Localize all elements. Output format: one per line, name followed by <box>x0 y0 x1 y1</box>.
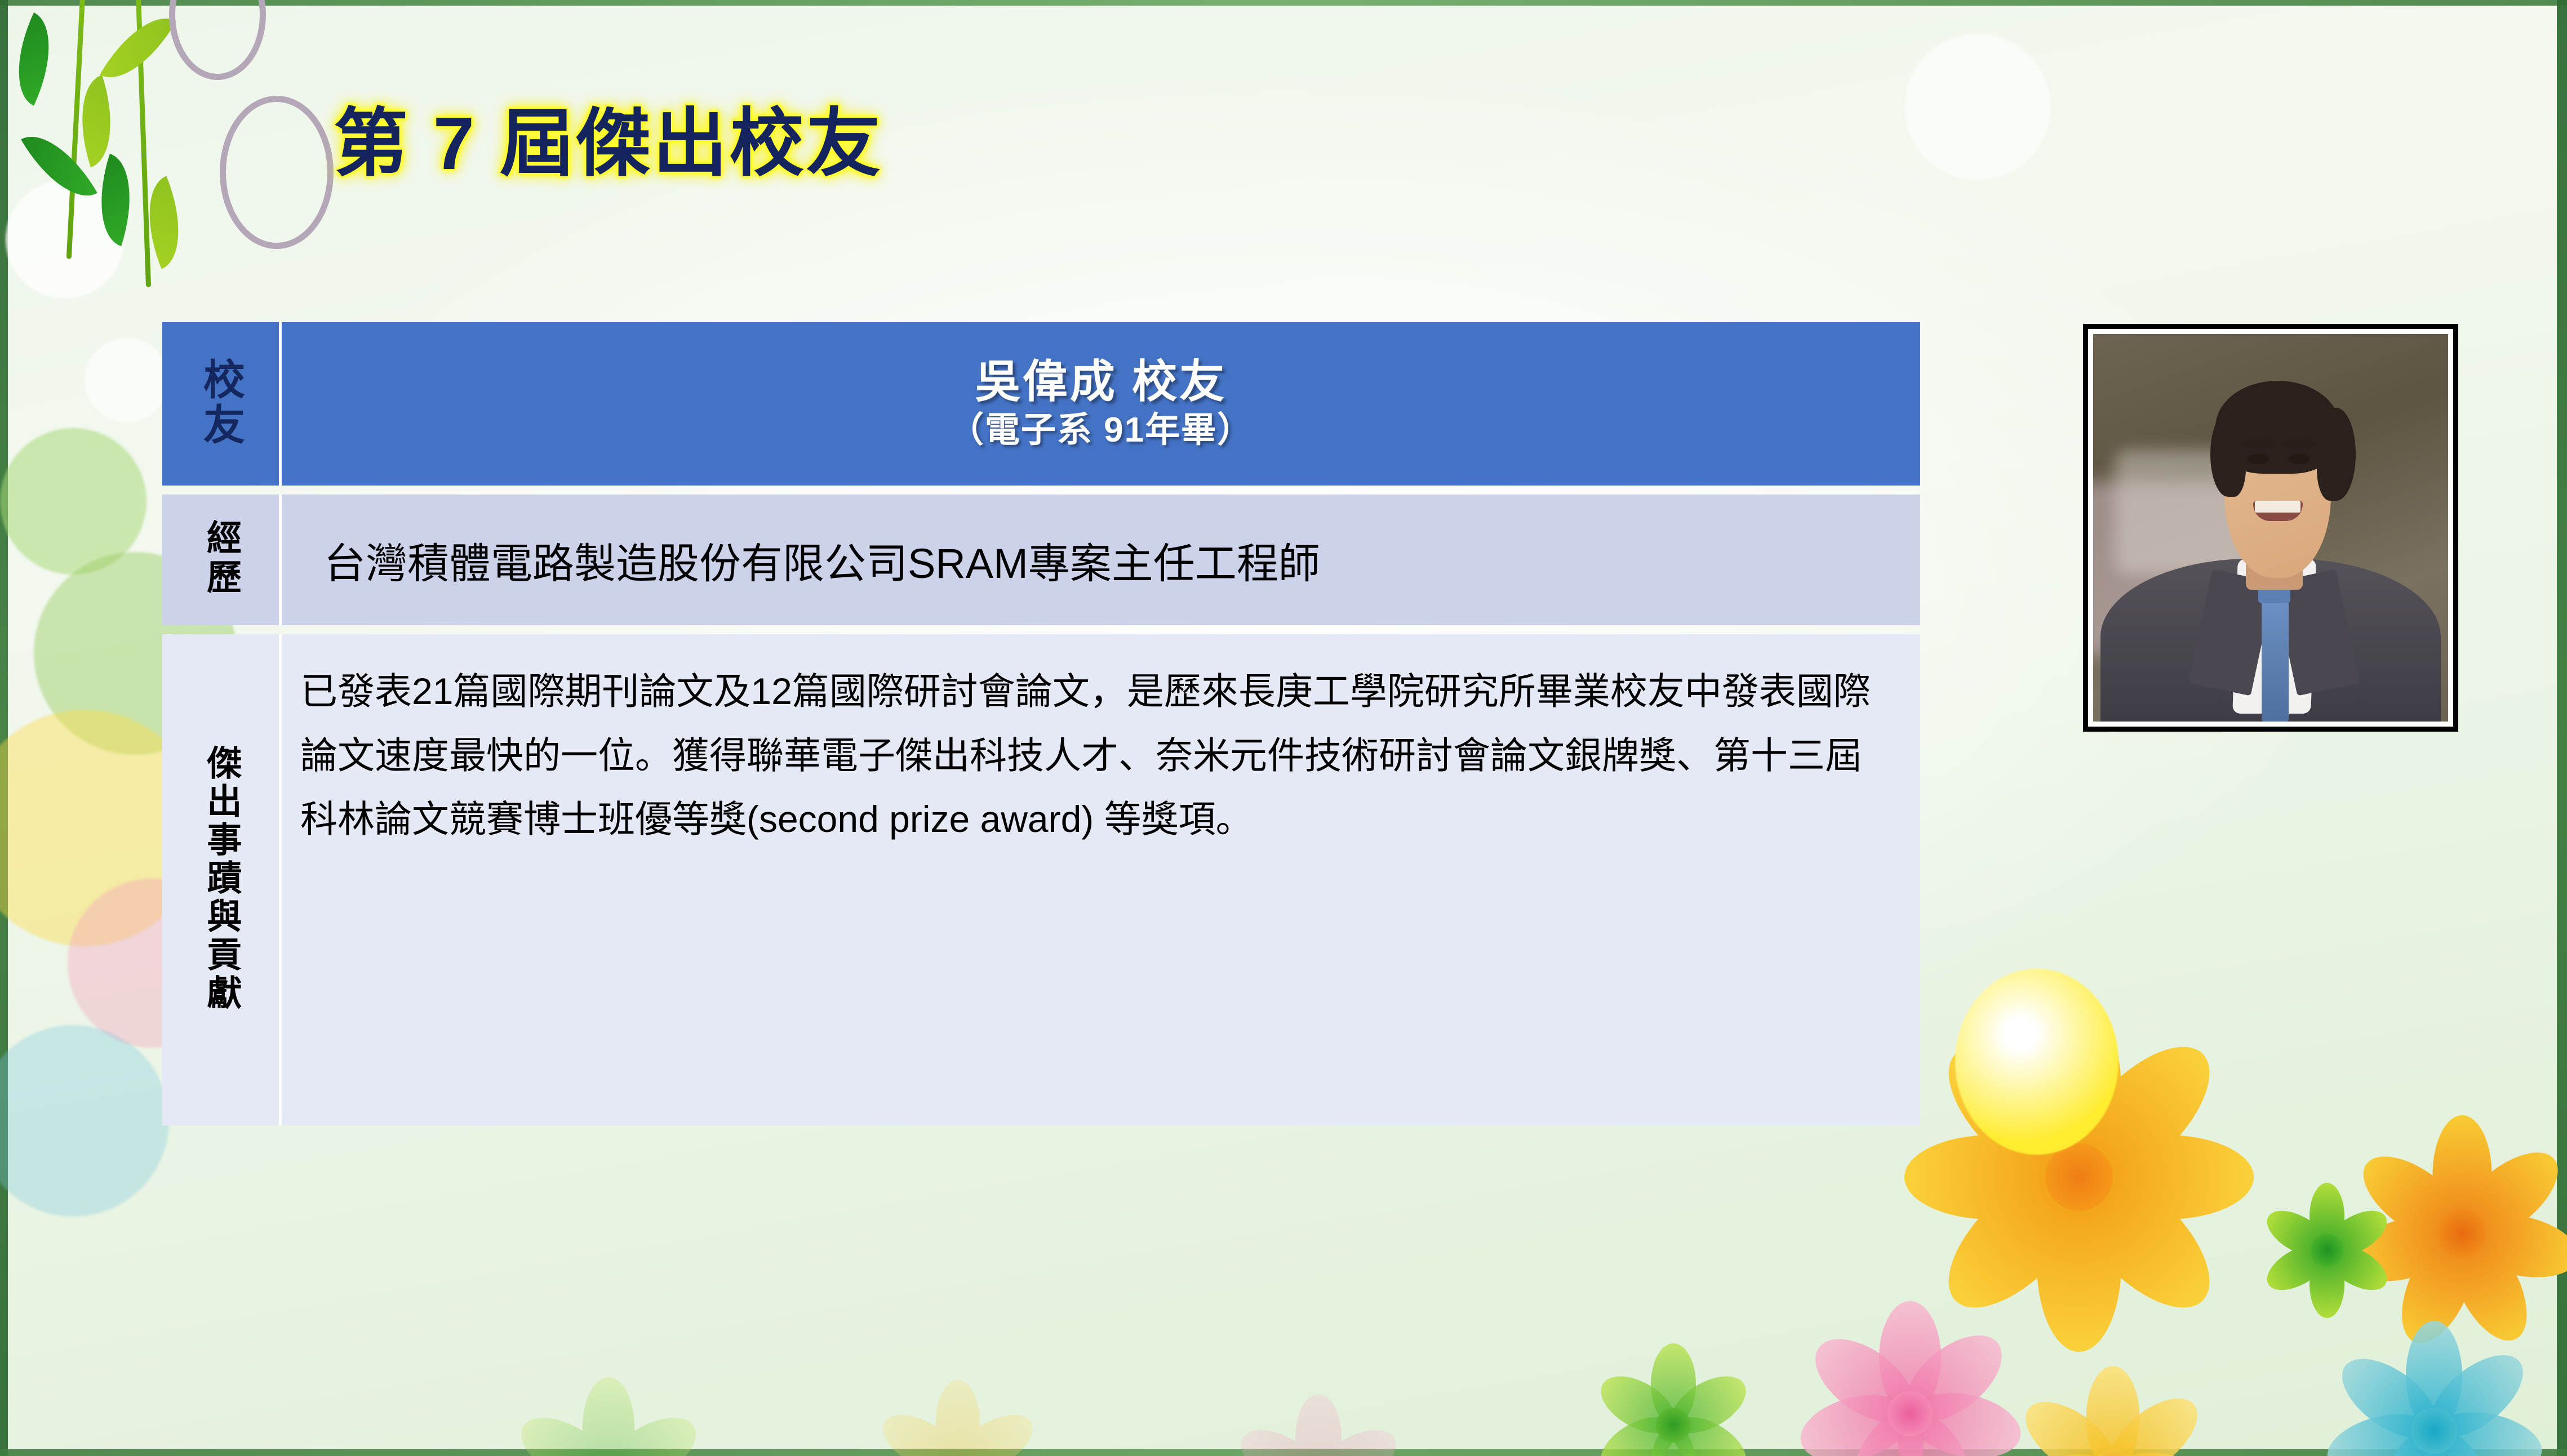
row-label-achievements-text: 傑出事蹟與貢獻 <box>202 745 239 1013</box>
row-label-alumni: 校友 <box>162 322 282 486</box>
table-row-achievements: 傑出事蹟與貢獻 已發表21篇國際期刊論文及12篇國際研討會論文，是歷來長庚工學院… <box>162 634 1920 1125</box>
flower-decoration <box>507 1374 710 1456</box>
table-row-spacer <box>162 486 1920 495</box>
row-label-experience: 經歷 <box>162 495 282 625</box>
alumni-photo-frame <box>2085 326 2457 730</box>
alumni-department-year: （電子系 91年畢） <box>282 409 1920 451</box>
alumni-photo <box>2088 329 2453 727</box>
photo-eye-left <box>2248 454 2269 464</box>
flower-highlight <box>1955 969 2119 1155</box>
flower-decoration <box>2259 1183 2395 1318</box>
flower-decoration <box>1589 1341 1758 1456</box>
bokeh-circle <box>0 1025 169 1217</box>
flower-decoration <box>2321 1318 2547 1456</box>
experience-text: 台灣積體電路製造股份有限公司SRAM專案主任工程師 <box>282 530 1920 590</box>
photo-hair-side-left <box>2210 412 2246 497</box>
alumni-info-table: 校友 吳偉成 校友 （電子系 91年畢） 經歷 台灣積體電路製造股份有限公司SR… <box>162 322 1920 1125</box>
flower-decoration <box>2006 1363 2220 1456</box>
photo-necktie <box>2262 590 2288 722</box>
table-row-alumni: 校友 吳偉成 校友 （電子系 91年畢） <box>162 322 1920 486</box>
row-label-experience-text: 經歷 <box>202 519 239 598</box>
slide: 第 7 屆傑出校友 校友 吳偉成 校友 （電子系 91年畢） 經歷 <box>0 0 2567 1456</box>
achievements-cell: 已發表21篇國際期刊論文及12篇國際研討會論文，是歷來長庚工學院研究所畢業校友中… <box>282 634 1920 1125</box>
photo-hair-side-right <box>2317 408 2356 501</box>
slide-edge-top <box>0 0 2567 6</box>
photo-eyebrow-right <box>2285 440 2313 448</box>
row-label-alumni-text: 校友 <box>199 358 243 448</box>
photo-eyebrow-left <box>2244 440 2272 448</box>
row-label-achievements: 傑出事蹟與貢獻 <box>162 634 282 1125</box>
achievements-text: 已發表21篇國際期刊論文及12篇國際研討會論文，是歷來長庚工學院研究所畢業校友中… <box>282 635 1920 852</box>
flower-decoration <box>873 1380 1042 1456</box>
alumni-name-cell: 吳偉成 校友 （電子系 91年畢） <box>282 322 1920 486</box>
bokeh-circle <box>85 338 169 422</box>
page-title: 第 7 屆傑出校友 <box>334 83 883 191</box>
flower-decoration <box>1228 1391 1409 1456</box>
experience-cell: 台灣積體電路製造股份有限公司SRAM專案主任工程師 <box>282 495 1920 625</box>
photo-teeth <box>2255 501 2300 513</box>
table-row-spacer <box>162 625 1920 634</box>
alumni-name: 吳偉成 校友 <box>282 357 1920 407</box>
table-row-experience: 經歷 台灣積體電路製造股份有限公司SRAM專案主任工程師 <box>162 495 1920 625</box>
bokeh-circle <box>1904 34 2051 180</box>
photo-mouth <box>2253 501 2303 521</box>
vine-loop-decoration <box>220 96 334 249</box>
slide-edge-left <box>0 0 8 1456</box>
flower-decoration <box>1792 1295 2028 1456</box>
